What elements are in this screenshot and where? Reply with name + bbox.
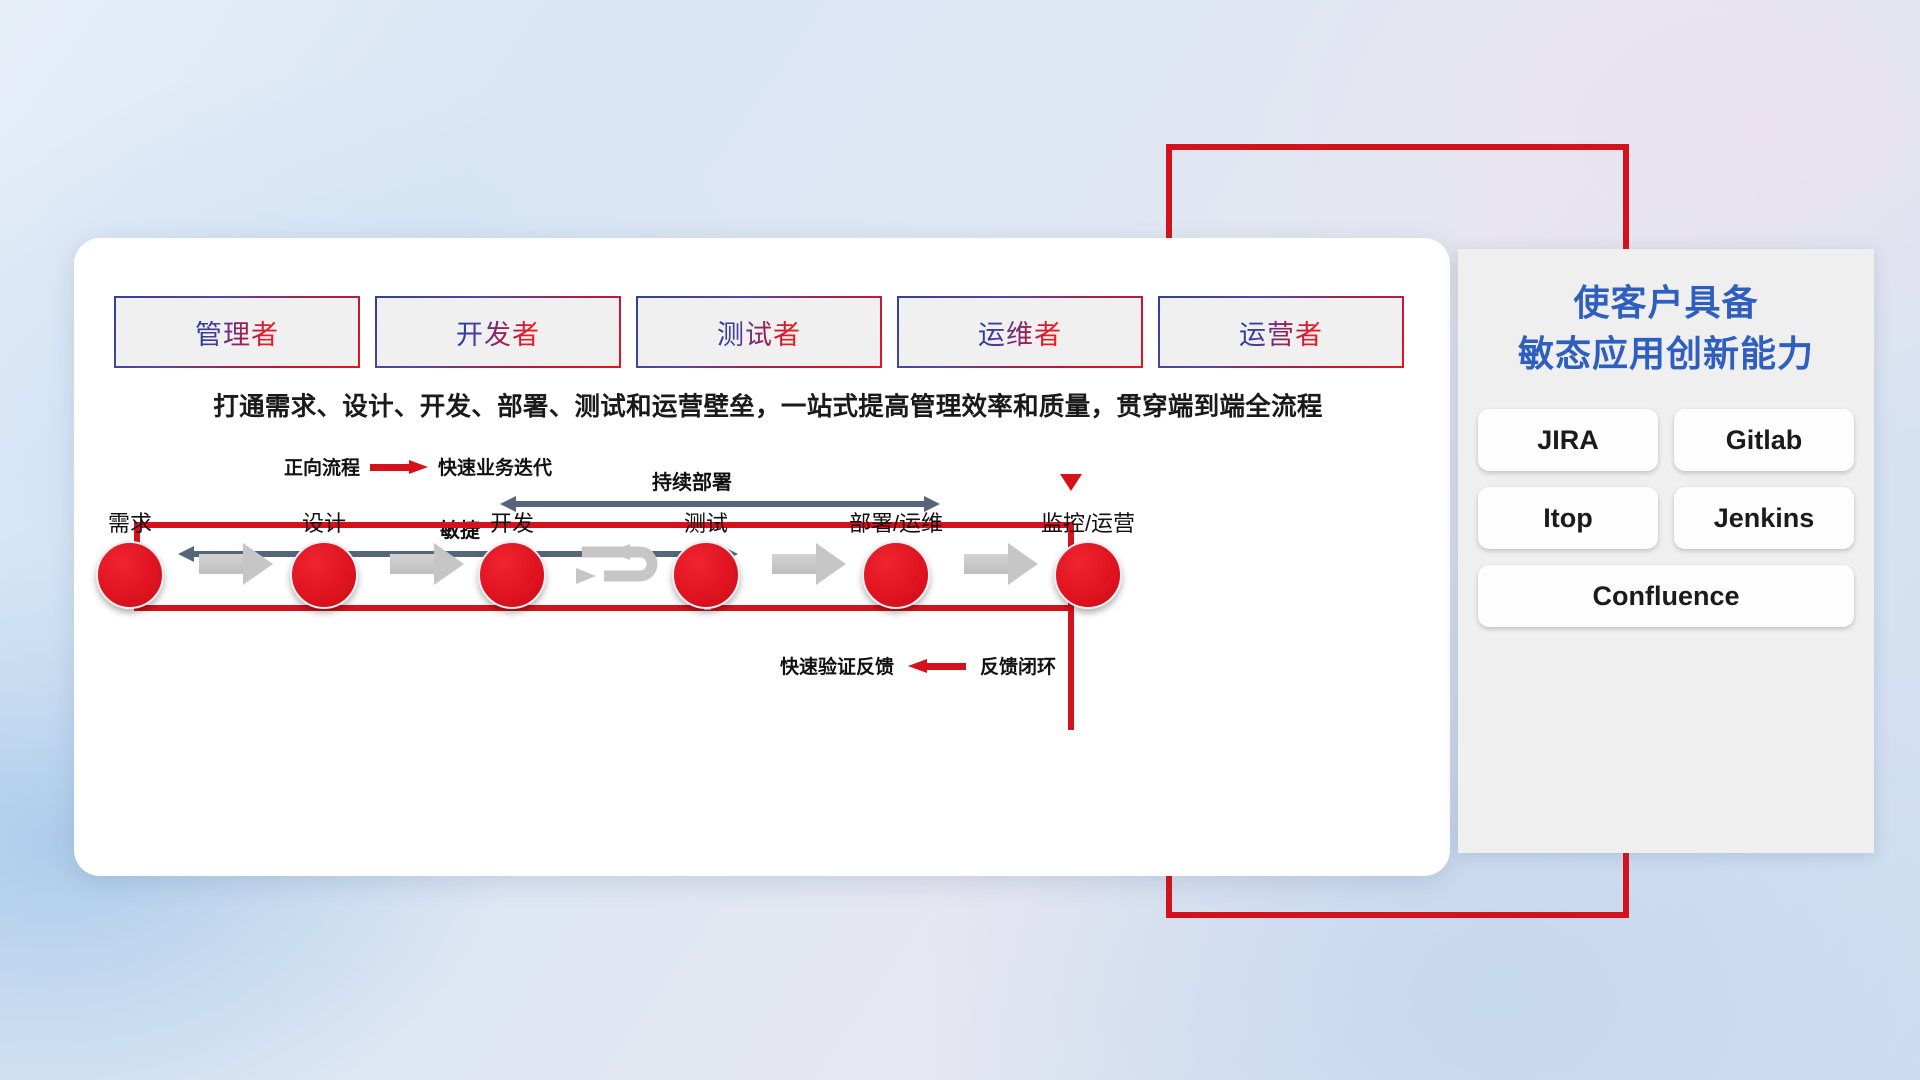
role-chip-label: 开发者 — [456, 313, 540, 352]
pipeline-stage-design[interactable]: 设计 — [264, 506, 384, 609]
feedback-loop-arrowhead-down — [1060, 474, 1082, 491]
forward-flow-source-label: 正向流程 — [284, 453, 360, 480]
forward-flow-target-label: 快速业务迭代 — [438, 453, 552, 480]
continuous-deployment-label: 持续部署 — [652, 466, 732, 495]
stage-label: 部署/运维 — [836, 506, 956, 538]
stage-label: 开发 — [452, 506, 572, 538]
pipeline-stage-testing[interactable]: 测试 — [646, 506, 766, 609]
role-chip-label: 管理者 — [195, 313, 279, 352]
outcome-panel-title: 使客户具备 敏态应用创新能力 — [1458, 249, 1874, 383]
main-content-card: 管理者 开发者 测试者 运维者 运营者 打通需求、设计、开发、部署、测试和运营壁… — [74, 238, 1450, 876]
pipeline-stage-requirement[interactable]: 需求 — [70, 506, 190, 609]
headline-text: 打通需求、设计、开发、部署、测试和运营壁垒，一站式提高管理效率和质量，贯穿端到端… — [118, 386, 1418, 423]
role-chip-developer[interactable]: 开发者 — [375, 296, 621, 368]
outcome-panel: 使客户具备 敏态应用创新能力 JIRA Gitlab Itop Jenkins … — [1458, 249, 1874, 853]
role-chips-row: 管理者 开发者 测试者 运维者 运营者 — [114, 296, 1404, 368]
role-chip-label: 运营者 — [1239, 313, 1323, 352]
tool-chip-gitlab[interactable]: Gitlab — [1674, 409, 1854, 471]
feedback-legend: 快速验证反馈 反馈闭环 — [780, 652, 1056, 679]
stage-dot — [290, 541, 358, 609]
tool-chips-grid: JIRA Gitlab Itop Jenkins Confluence — [1470, 409, 1862, 627]
outcome-title-line-1: 使客户具备 — [1468, 277, 1864, 328]
stage-label: 设计 — [264, 506, 384, 538]
feedback-target-label: 快速验证反馈 — [780, 652, 894, 679]
stage-dot — [478, 541, 546, 609]
forward-flow-legend: 正向流程 快速业务迭代 — [284, 453, 552, 480]
tool-chip-jenkins[interactable]: Jenkins — [1674, 487, 1854, 549]
role-chip-label: 运维者 — [978, 313, 1062, 352]
feedback-source-label: 反馈闭环 — [980, 652, 1056, 679]
pipeline-stage-deploy-ops[interactable]: 部署/运维 — [836, 506, 956, 609]
role-chip-manager[interactable]: 管理者 — [114, 296, 360, 368]
stage-dot — [862, 541, 930, 609]
pipeline-arrow-1 — [199, 543, 273, 585]
role-chip-operations[interactable]: 运营者 — [1158, 296, 1404, 368]
slide-canvas: 管理者 开发者 测试者 运维者 运营者 打通需求、设计、开发、部署、测试和运营壁… — [0, 0, 1920, 1080]
stage-dot — [672, 541, 740, 609]
pipeline-arrow-3 — [772, 543, 846, 585]
connector-top-horizontal — [1166, 144, 1629, 150]
pipeline-stage-development[interactable]: 开发 — [452, 506, 572, 609]
outcome-title-line-2: 敏态应用创新能力 — [1468, 328, 1864, 379]
stage-label: 测试 — [646, 506, 766, 538]
stage-dot — [1054, 541, 1122, 609]
feedback-arrow-icon — [908, 659, 966, 673]
forward-arrow-icon — [370, 460, 428, 474]
role-chip-label: 测试者 — [717, 313, 801, 352]
pipeline-stage-monitor-operations[interactable]: 监控/运营 — [1028, 506, 1148, 609]
tool-chip-confluence[interactable]: Confluence — [1478, 565, 1854, 627]
stage-dot — [96, 541, 164, 609]
tool-chip-itop[interactable]: Itop — [1478, 487, 1658, 549]
stage-label: 监控/运营 — [1028, 506, 1148, 538]
pipeline-arrow-4 — [964, 543, 1038, 585]
role-chip-tester[interactable]: 测试者 — [636, 296, 882, 368]
role-chip-ops[interactable]: 运维者 — [897, 296, 1143, 368]
stage-label: 需求 — [70, 506, 190, 538]
tool-chip-jira[interactable]: JIRA — [1478, 409, 1658, 471]
connector-bottom-horizontal — [1166, 912, 1629, 918]
